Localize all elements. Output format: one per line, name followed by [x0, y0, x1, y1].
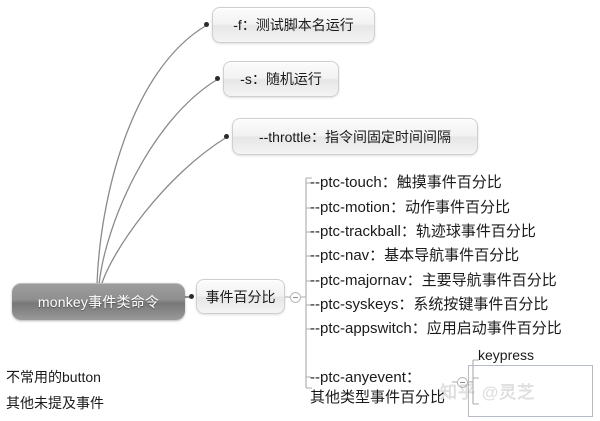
branch-node-throttle[interactable]: --throttle：指令间固定时间间隔 [232, 118, 478, 155]
wire-root-to-f [97, 25, 207, 284]
branch-node-s[interactable]: -s：随机运行 [223, 61, 339, 97]
leaf-ptc-syskeys[interactable]: --ptc-syskeys：系统按键事件百分比 [310, 296, 548, 314]
branch-node-percent[interactable]: 事件百分比 [196, 279, 285, 314]
root-node[interactable]: monkey事件类命令 [12, 283, 185, 320]
branch-node-percent-label: 事件百分比 [194, 287, 288, 307]
branch-node-f[interactable]: -f：测试脚本名运行 [212, 7, 375, 43]
sub-leaf-other-events[interactable]: 其他未提及事件 [6, 393, 104, 413]
leaf-ptc-anyevent-line2: 其他类型事件百分比 [310, 388, 445, 408]
leaf-ptc-anyevent-line1: --ptc-anyevent： [310, 369, 421, 386]
anyevent-subgroup-box [468, 365, 593, 417]
branch-bullet-throttle [224, 134, 229, 139]
sub-leaf-keypress[interactable]: keypress [478, 347, 534, 363]
leaf-ptc-trackball[interactable]: --ptc-trackball：轨迹球事件百分比 [310, 223, 536, 241]
branch-bullet-f [204, 22, 209, 27]
collapse-toggle-percent[interactable] [290, 292, 301, 303]
branch-node-throttle-label: --throttle：指令间固定时间间隔 [247, 127, 463, 147]
branch-node-s-label: -s：随机运行 [228, 69, 334, 89]
sub-leaf-button[interactable]: 不常用的button [6, 367, 101, 387]
leaf-ptc-nav[interactable]: --ptc-nav：基本导航事件百分比 [310, 247, 519, 265]
leaf-ptc-majornav[interactable]: --ptc-majornav：主要导航事件百分比 [310, 272, 557, 290]
branch-bullet-s [215, 76, 220, 81]
wire-root-to-s [99, 79, 218, 285]
leaf-ptc-touch[interactable]: --ptc-touch：触摸事件百分比 [310, 174, 502, 192]
leaf-ptc-anyevent[interactable]: --ptc-anyevent： 其他类型事件百分比 [310, 368, 445, 408]
branch-node-f-label: -f：测试脚本名运行 [221, 15, 366, 35]
mindmap-canvas: monkey事件类命令 -f：测试脚本名运行 -s：随机运行 --throttl… [0, 0, 600, 421]
collapse-toggle-anyevent[interactable] [457, 377, 468, 388]
root-node-label: monkey事件类命令 [38, 292, 159, 312]
leaf-ptc-motion[interactable]: --ptc-motion：动作事件百分比 [310, 199, 510, 217]
leaf-ptc-appswitch[interactable]: --ptc-appswitch：应用启动事件百分比 [310, 320, 562, 338]
wire-root-to-throttle [101, 137, 227, 286]
